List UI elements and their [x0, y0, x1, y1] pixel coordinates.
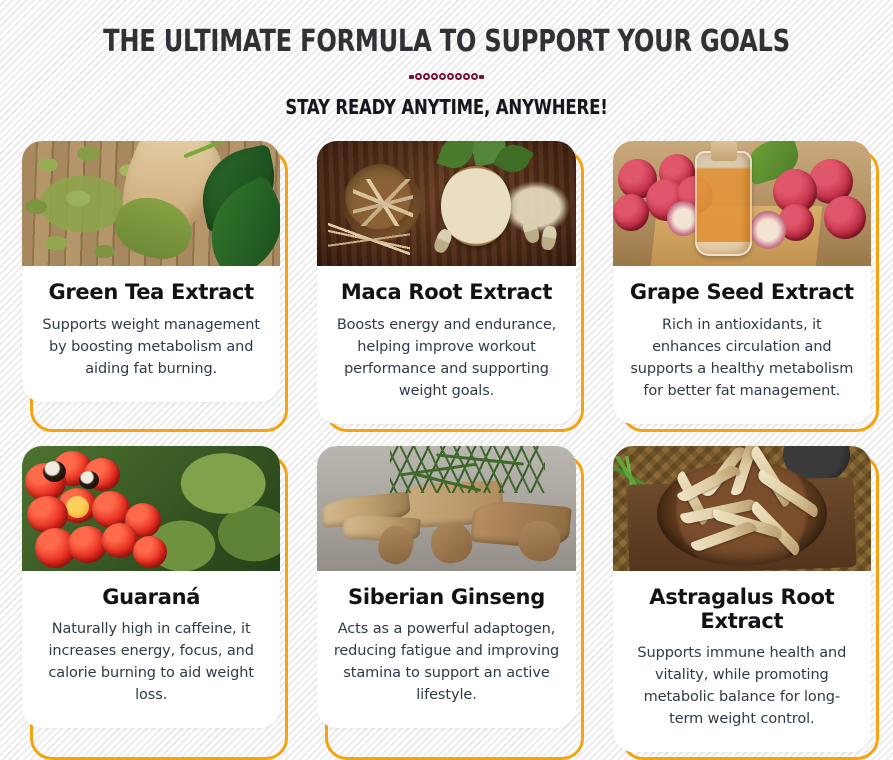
card-wrapper-siberian-ginseng: Siberian Ginseng Acts as a powerful adap…	[317, 446, 575, 752]
guarana-red-berries-cluster-image	[22, 446, 280, 571]
card-body: Green Tea Extract Supports weight manage…	[22, 266, 280, 401]
card-description: Rich in antioxidants, it enhances circul…	[629, 314, 855, 402]
divider-bead	[431, 73, 438, 80]
ginseng-roots-with-rosemary-image	[317, 446, 575, 571]
page-header: THE ULTIMATE FORMULA TO SUPPORT YOUR GOA…	[0, 0, 893, 119]
maca-roots-powder-and-capsules-image	[317, 141, 575, 266]
astragalus-root-slices-in-bowl-image	[613, 446, 871, 571]
divider-bead	[439, 73, 446, 80]
ingredient-card-grape-seed[interactable]: Grape Seed Extract Rich in antioxidants,…	[613, 141, 871, 423]
ingredient-card-astragalus-root[interactable]: Astragalus Root Extract Supports immune …	[613, 446, 871, 752]
card-wrapper-grape-seed: Grape Seed Extract Rich in antioxidants,…	[613, 141, 871, 423]
card-description: Supports weight management by boosting m…	[38, 314, 264, 380]
divider-bead	[455, 73, 462, 80]
page-subtitle: STAY READY ANYTIME, ANYWHERE!	[80, 95, 812, 119]
card-wrapper-green-tea: Green Tea Extract Supports weight manage…	[22, 141, 280, 423]
card-description: Naturally high in caffeine, it increases…	[38, 618, 264, 706]
red-grapes-with-oil-bottle-image	[613, 141, 871, 266]
card-description: Supports immune health and vitality, whi…	[629, 642, 855, 730]
card-title: Maca Root Extract	[333, 280, 559, 304]
divider-bead	[447, 73, 454, 80]
card-title: Guaraná	[38, 585, 264, 609]
page-title: THE ULTIMATE FORMULA TO SUPPORT YOUR GOA…	[89, 26, 803, 58]
beaded-chain-divider-icon	[401, 72, 493, 81]
green-tea-leaves-with-wooden-scoop-image	[22, 141, 280, 266]
card-description: Boosts energy and endurance, helping imp…	[333, 314, 559, 402]
card-wrapper-guarana: Guaraná Naturally high in caffeine, it i…	[22, 446, 280, 752]
ingredient-card-siberian-ginseng[interactable]: Siberian Ginseng Acts as a powerful adap…	[317, 446, 575, 728]
divider-cap-left	[409, 75, 414, 79]
divider-bead	[463, 73, 470, 80]
card-body: Maca Root Extract Boosts energy and endu…	[317, 266, 575, 423]
divider-cap-right	[479, 75, 484, 79]
divider-bead	[415, 73, 422, 80]
card-body: Siberian Ginseng Acts as a powerful adap…	[317, 571, 575, 728]
divider-bead	[423, 73, 430, 80]
card-wrapper-astragalus-root: Astragalus Root Extract Supports immune …	[613, 446, 871, 752]
ingredient-card-green-tea[interactable]: Green Tea Extract Supports weight manage…	[22, 141, 280, 401]
ingredient-card-grid: Green Tea Extract Supports weight manage…	[0, 141, 893, 752]
card-title: Siberian Ginseng	[333, 585, 559, 609]
card-body: Astragalus Root Extract Supports immune …	[613, 571, 871, 752]
card-description: Acts as a powerful adaptogen, reducing f…	[333, 618, 559, 706]
card-title: Astragalus Root Extract	[629, 585, 855, 633]
card-body: Guaraná Naturally high in caffeine, it i…	[22, 571, 280, 728]
divider-bead	[471, 73, 478, 80]
card-body: Grape Seed Extract Rich in antioxidants,…	[613, 266, 871, 423]
ingredient-card-guarana[interactable]: Guaraná Naturally high in caffeine, it i…	[22, 446, 280, 728]
card-title: Green Tea Extract	[38, 280, 264, 304]
card-title: Grape Seed Extract	[629, 280, 855, 304]
ingredient-card-maca-root[interactable]: Maca Root Extract Boosts energy and endu…	[317, 141, 575, 423]
card-wrapper-maca-root: Maca Root Extract Boosts energy and endu…	[317, 141, 575, 423]
